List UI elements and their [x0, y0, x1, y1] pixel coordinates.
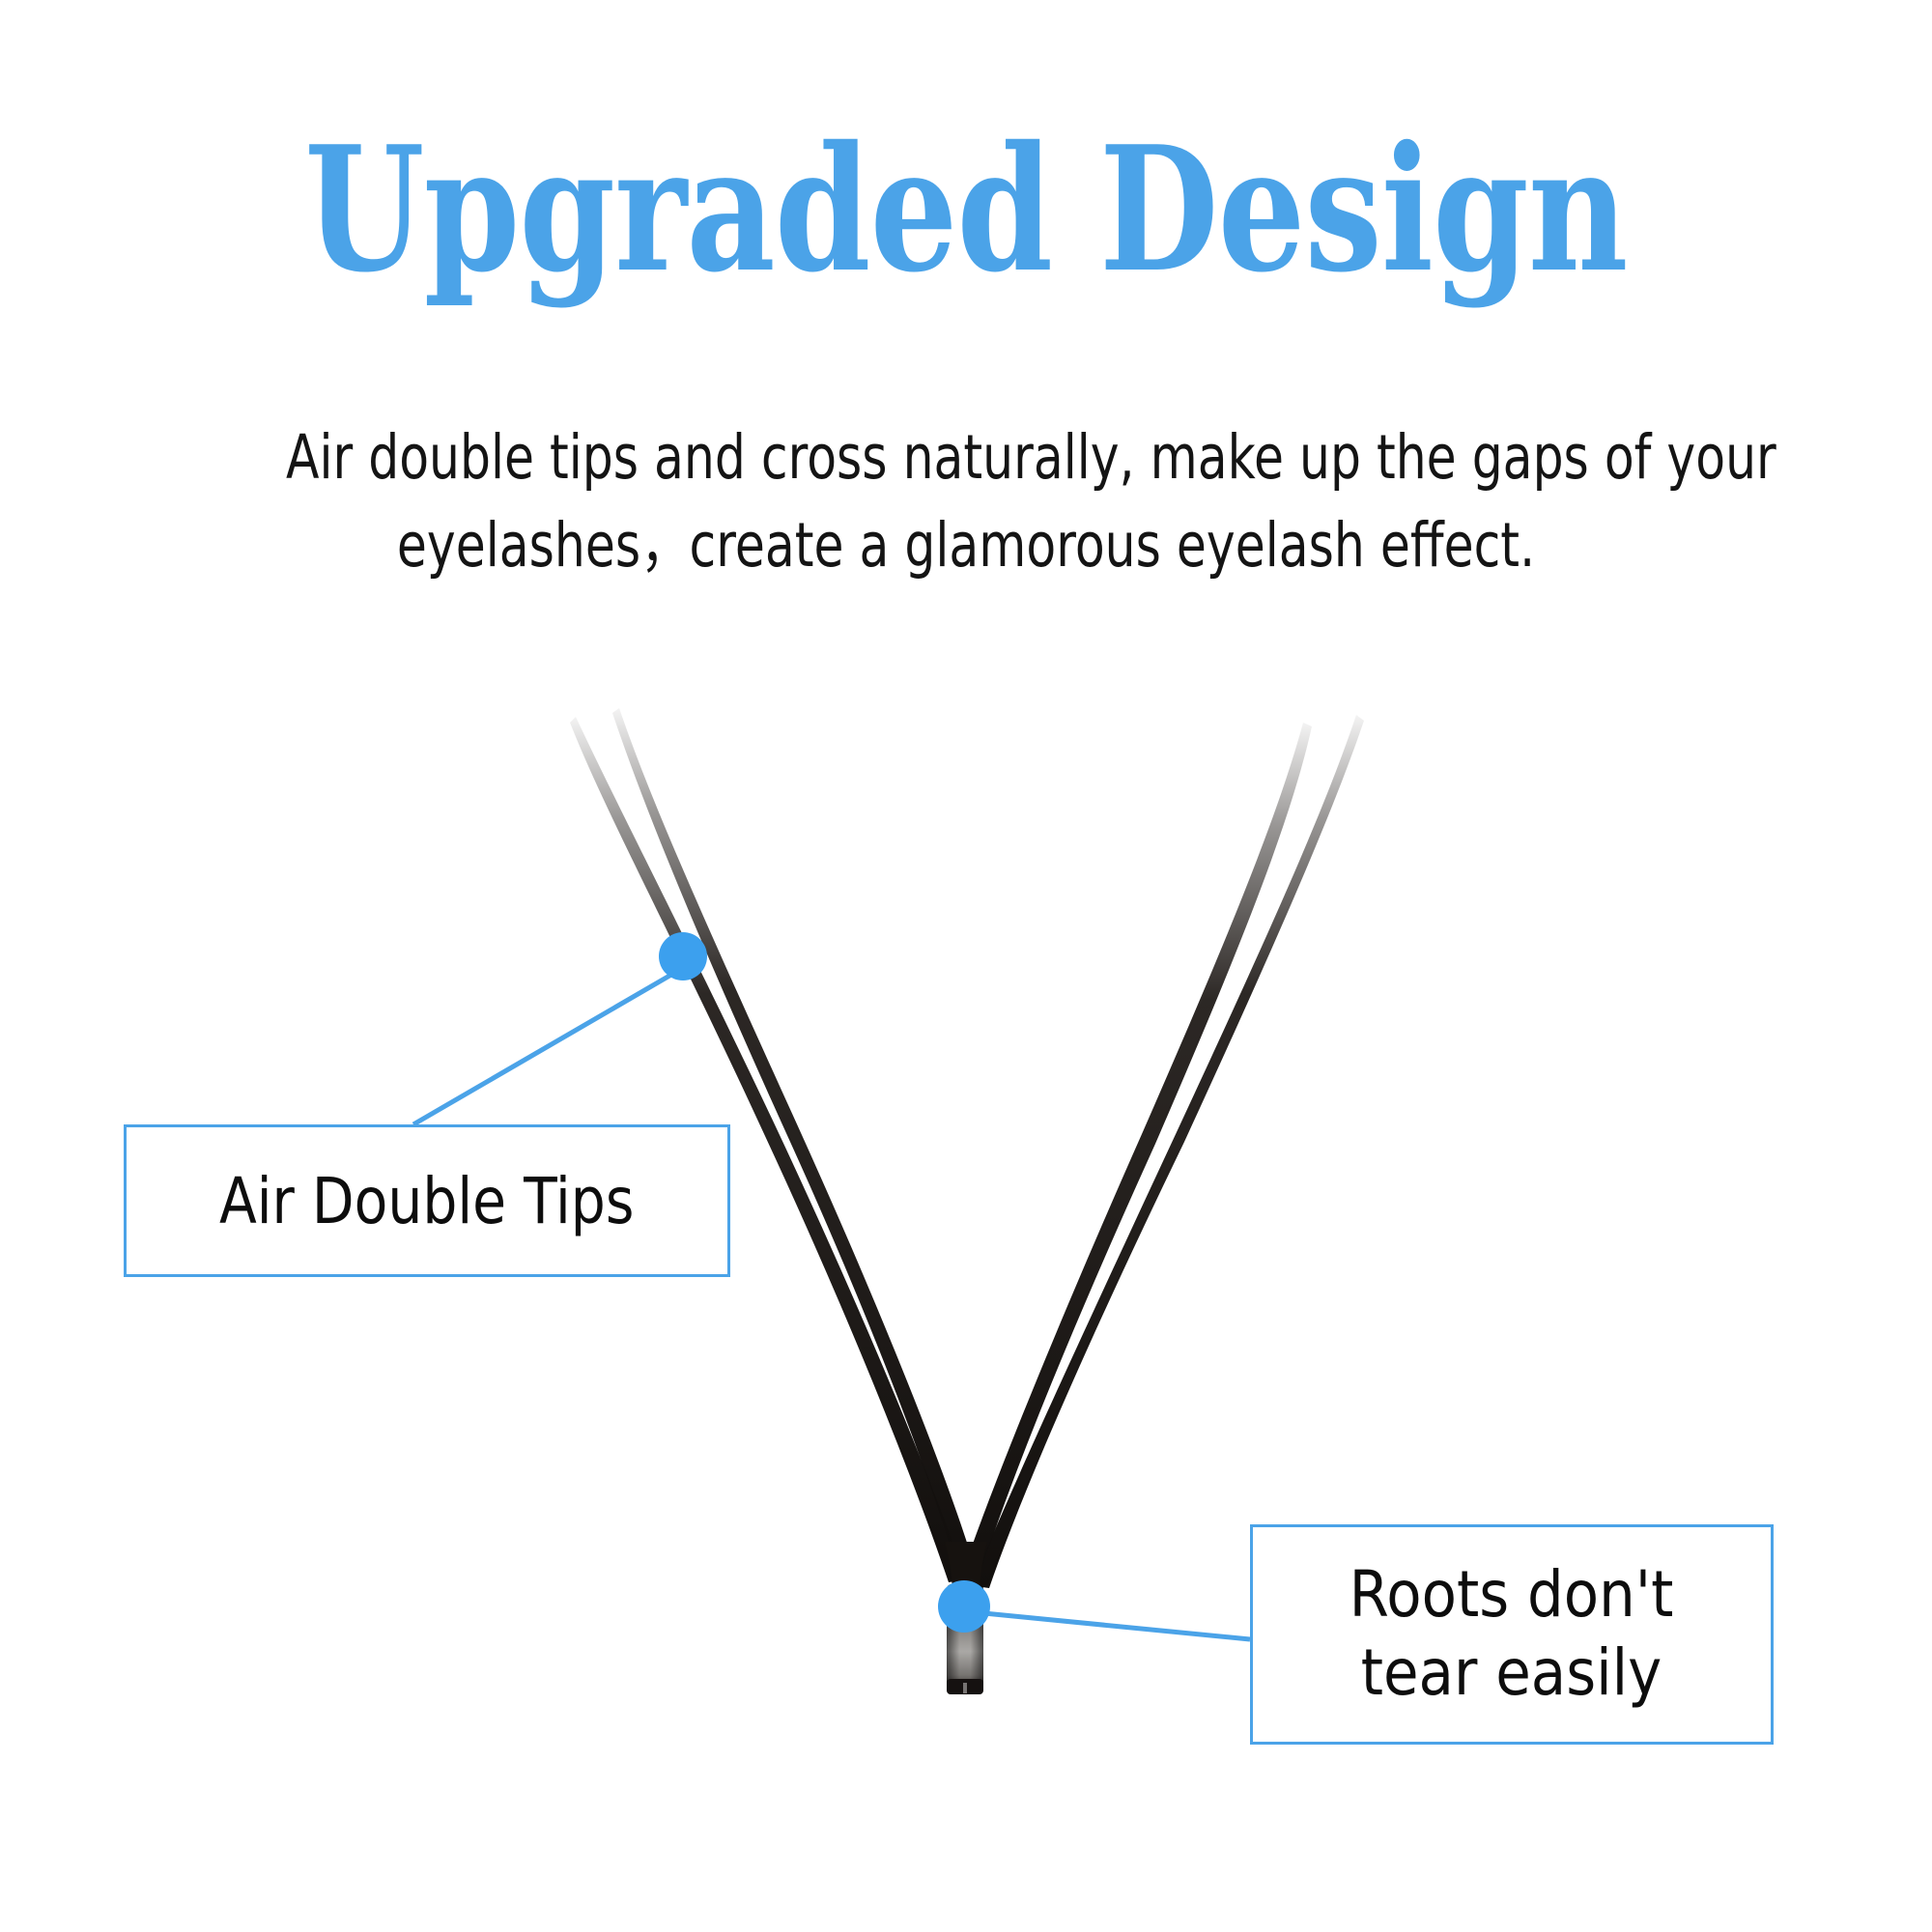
page-title: Upgraded Design: [193, 124, 1739, 296]
callout-roots-label-line-2: tear easily: [1350, 1634, 1674, 1713]
subtitle-line-2: eyelashes，create a glamorous eyelash eff…: [286, 501, 1646, 589]
leader-line-roots: [974, 1612, 1250, 1639]
lash-root-base: [947, 1584, 983, 1694]
callout-air-double-tips-label: Air Double Tips: [219, 1164, 634, 1238]
marker-dot-air-double-tips[interactable]: [659, 932, 707, 980]
product-infographic-page: Upgraded Design Air double tips and cros…: [0, 0, 1932, 1932]
fiber-right-outer: [976, 715, 1364, 1588]
subtitle-line-1: Air double tips and cross naturally, mak…: [286, 413, 1646, 501]
callout-roots-dont-tear-easily[interactable]: Roots don't tear easily: [1250, 1524, 1774, 1745]
marker-dot-roots[interactable]: [938, 1580, 990, 1633]
callout-roots-label: Roots don't tear easily: [1350, 1556, 1674, 1712]
fiber-right-inner: [962, 723, 1312, 1588]
fiber-neck: [945, 1542, 987, 1598]
leader-line-air-double-tips: [413, 968, 683, 1124]
callout-roots-label-line-1: Roots don't: [1350, 1556, 1674, 1634]
subtitle-block: Air double tips and cross naturally, mak…: [286, 413, 1646, 590]
callout-air-double-tips[interactable]: Air Double Tips: [124, 1124, 730, 1277]
